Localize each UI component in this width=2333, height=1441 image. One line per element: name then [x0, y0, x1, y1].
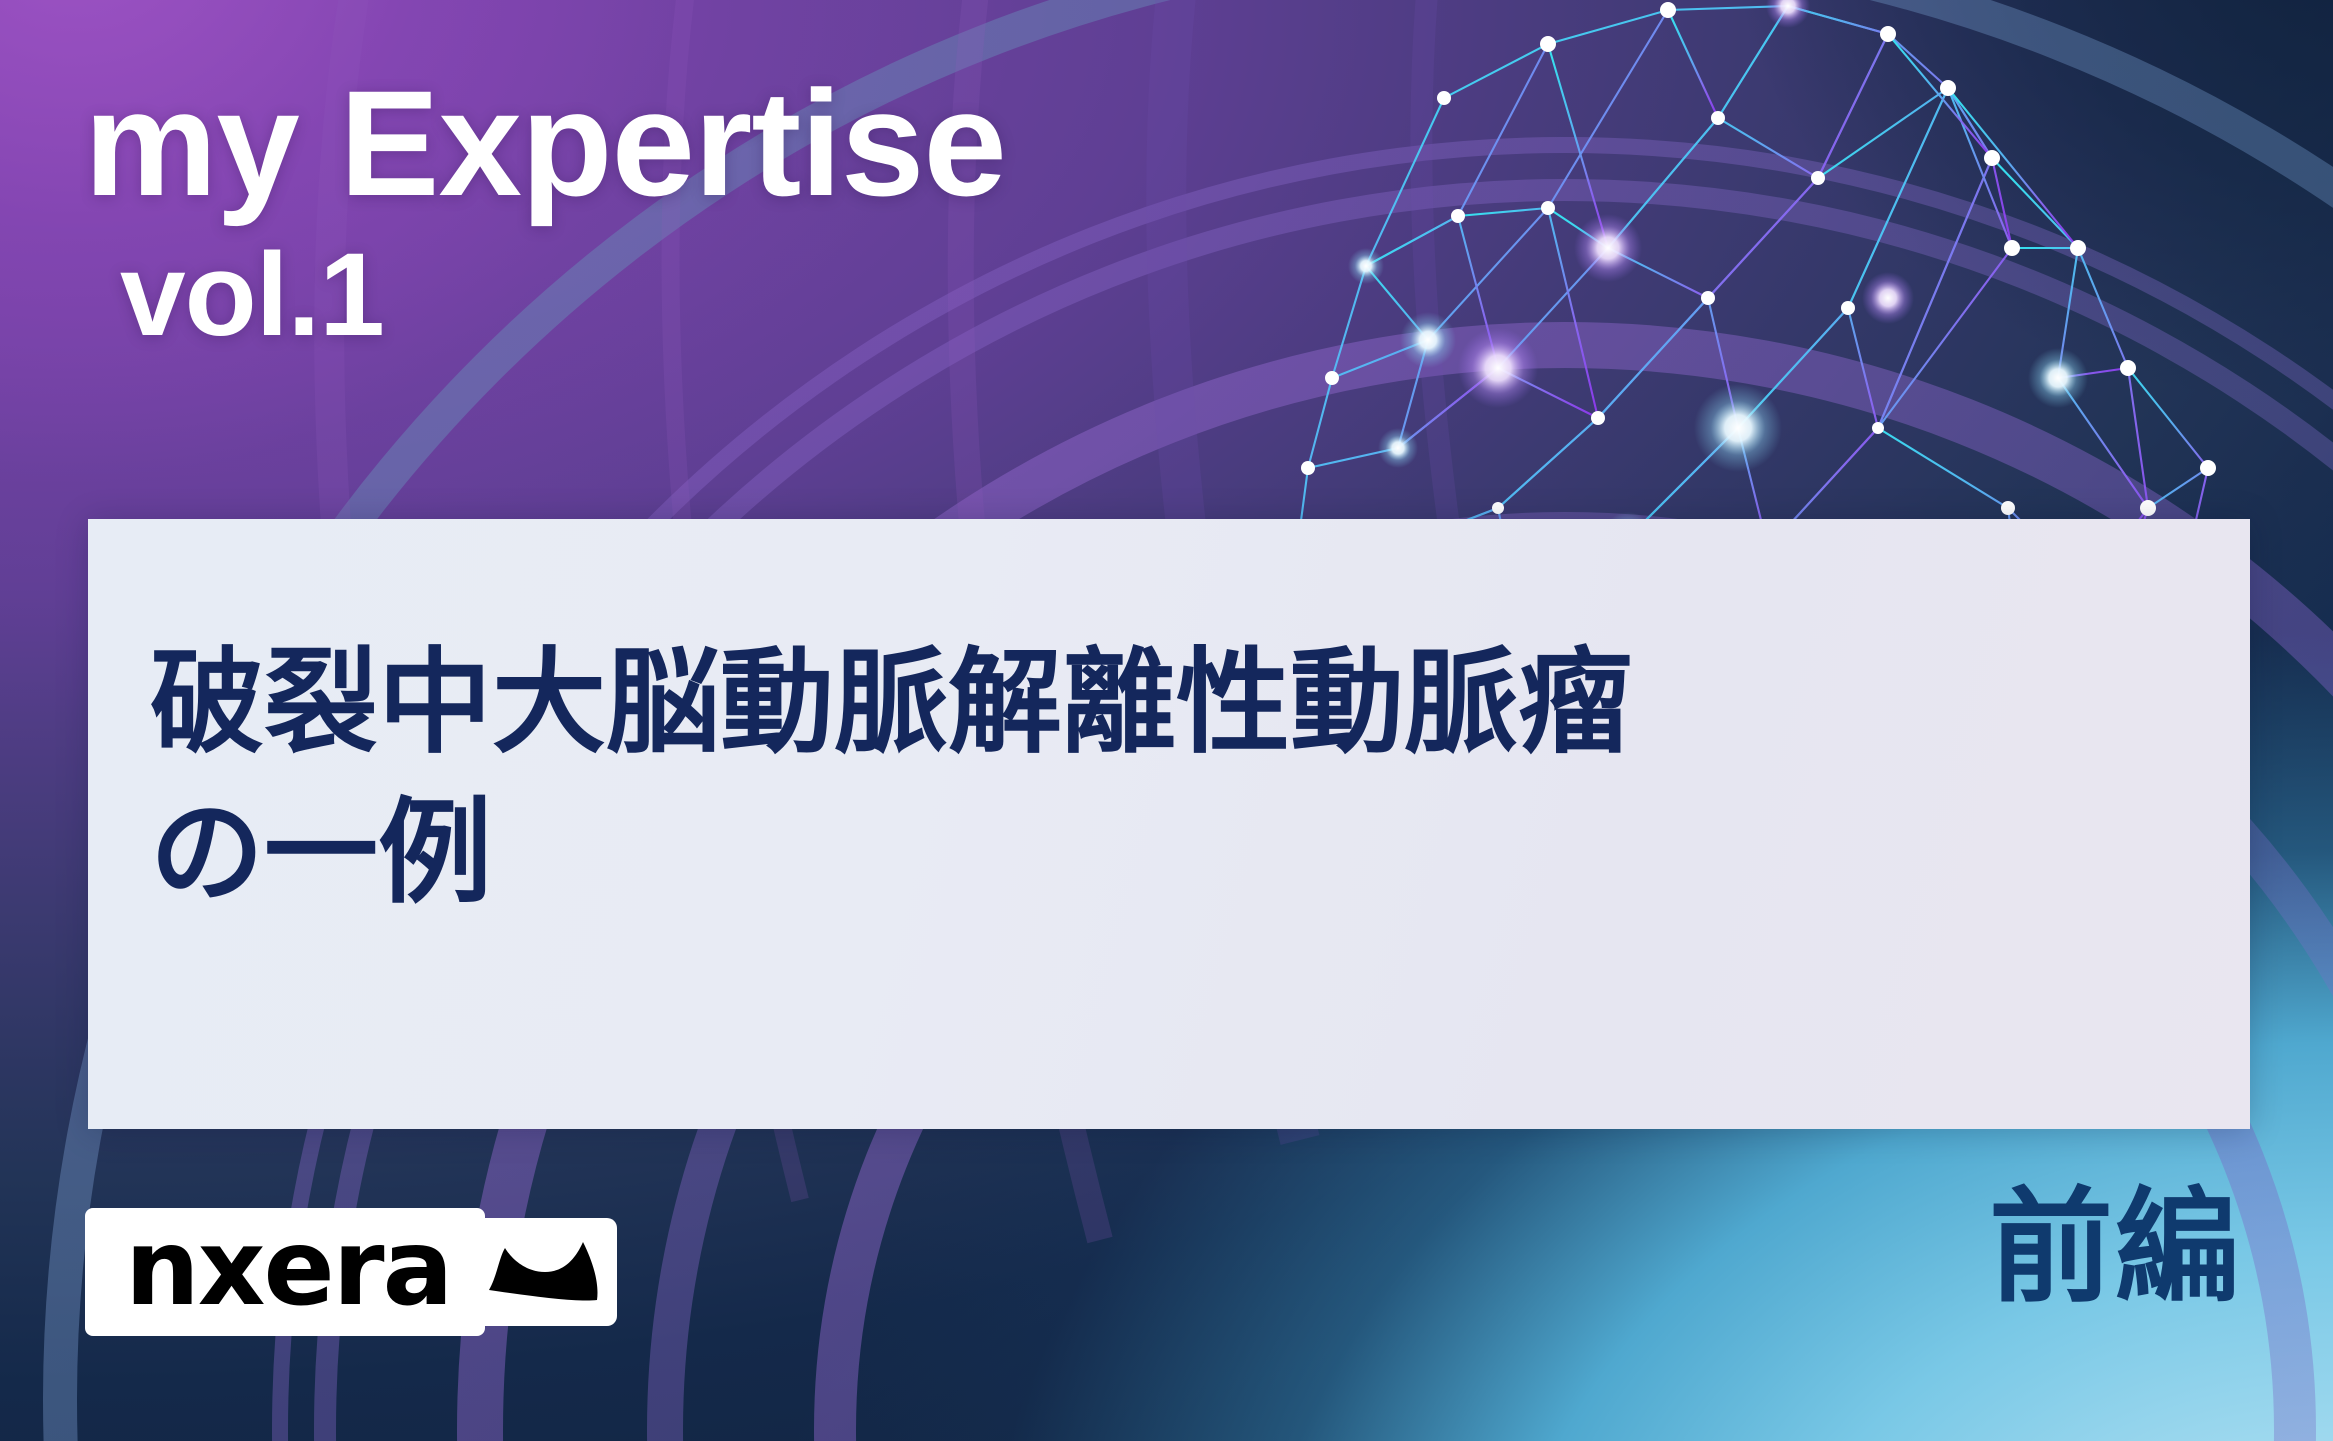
- case-title: 破裂中大脳動脈解離性動脈瘤 の一例: [150, 629, 2210, 930]
- case-title-panel: 破裂中大脳動脈解離性動脈瘤 の一例: [88, 519, 2250, 1129]
- part-badge: 前編: [1989, 1186, 2241, 1310]
- nxera-logo[interactable]: nxera: [85, 1208, 617, 1336]
- slide-canvas: my Expertise vol.1 破裂中大脳動脈解離性動脈瘤 の一例 nxe…: [0, 0, 2333, 1441]
- case-title-line-2: の一例: [150, 779, 2210, 929]
- series-title: my Expertise vol.1: [84, 68, 1006, 354]
- nxera-wordmark: nxera: [125, 1216, 451, 1321]
- case-title-line-1: 破裂中大脳動脈解離性動脈瘤: [150, 629, 2210, 779]
- series-title-line-1: my Expertise: [84, 68, 1006, 218]
- series-title-line-2: vol.1: [120, 236, 1006, 354]
- nxera-wordmark-plate: nxera: [85, 1208, 485, 1336]
- brush-stroke-icon: [469, 1218, 617, 1326]
